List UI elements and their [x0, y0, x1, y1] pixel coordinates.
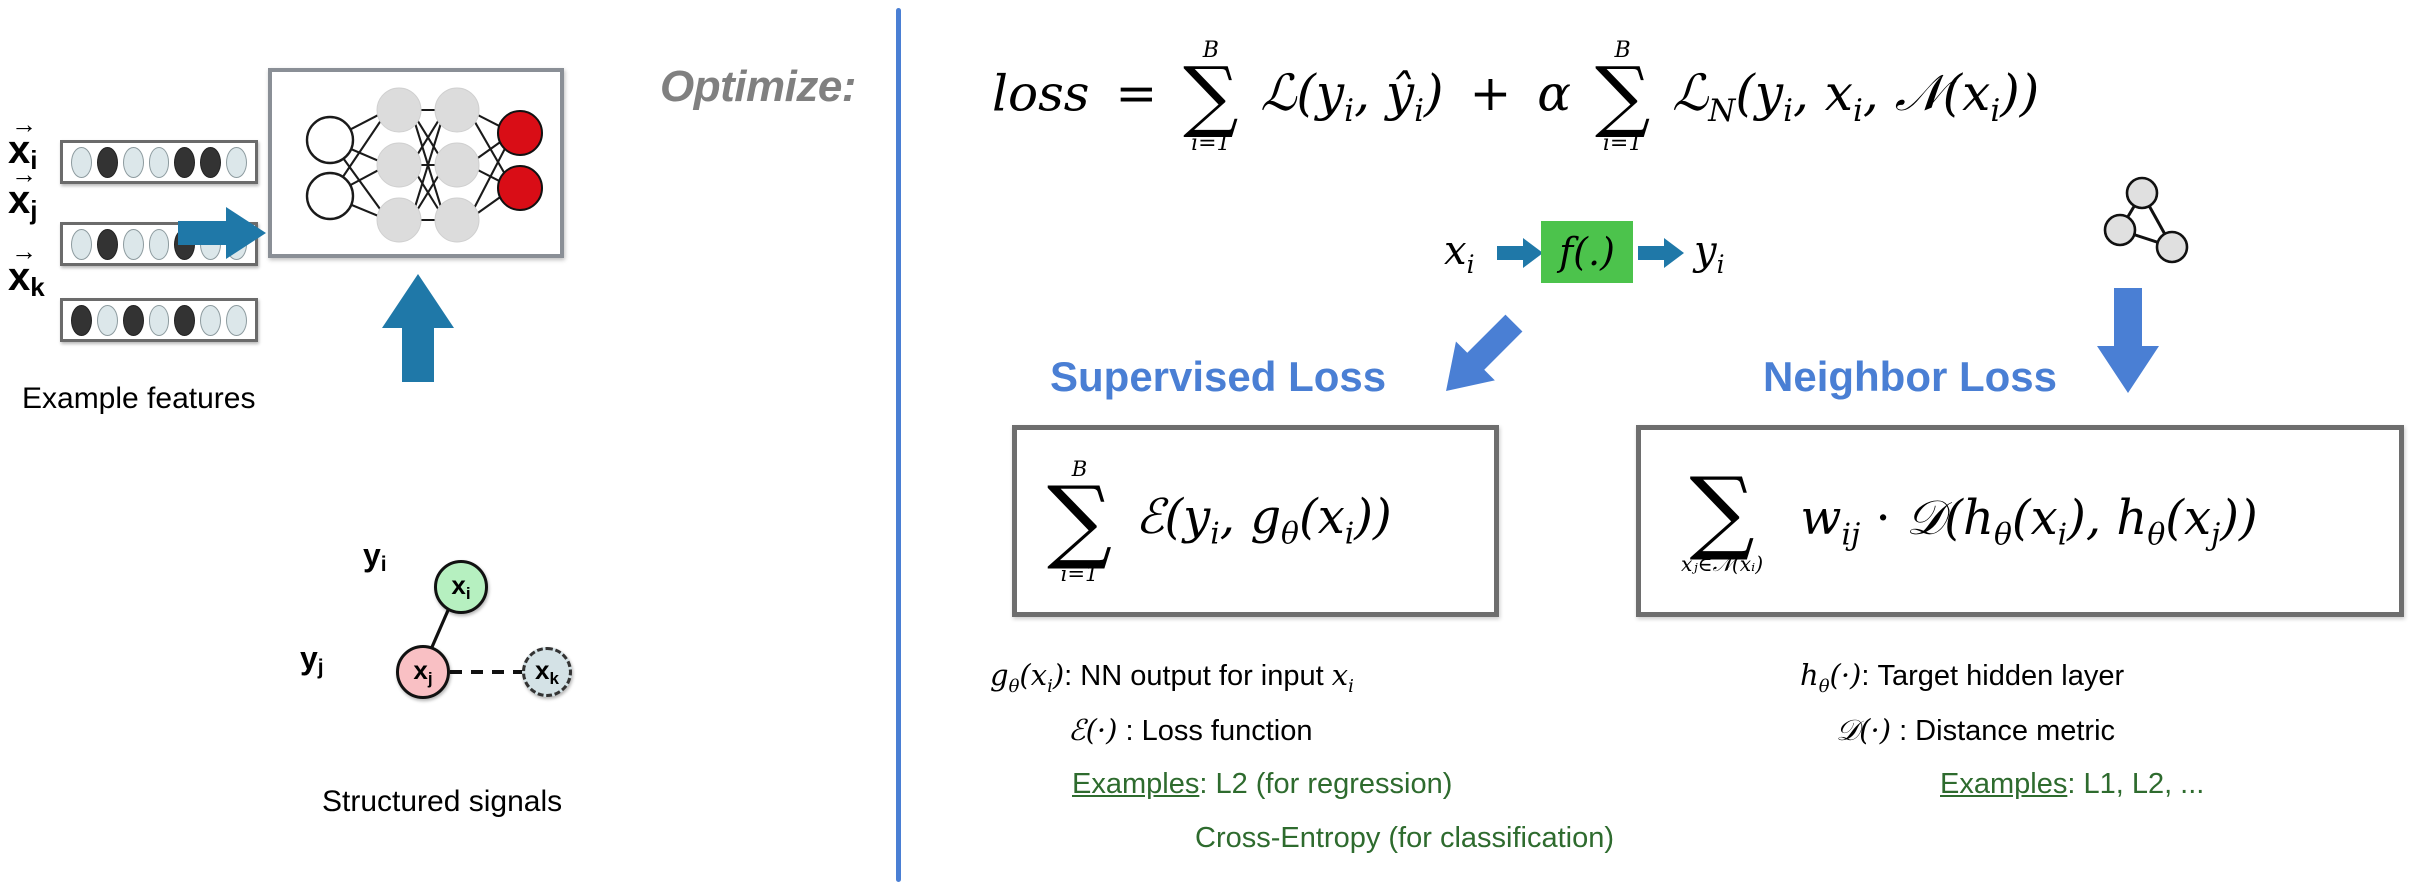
neighbor-examples-line: Examples: L1, L2, ... [1940, 768, 2204, 801]
pipeline-output-label: yi [1694, 228, 1725, 279]
feature-cell [97, 305, 118, 336]
arrow-features-to-network-icon [176, 200, 272, 272]
neighbor-loss-formula: ∑ xⱼ∈𝒩(xᵢ) wij · 𝒟(hθ(xi), hθ(xj)) [1641, 468, 2258, 574]
formula-term1: ℒ(y [1260, 64, 1344, 122]
arrow-to-neighbor-loss-icon [2093, 288, 2163, 396]
feature-cell [149, 305, 170, 336]
feature-cell [97, 147, 118, 178]
neighbor-examples-label: Examples [1940, 768, 2067, 800]
pipeline-arrow-in-icon [1497, 236, 1545, 270]
supervised-legend-line-1: gθ(xi): NN output for input xi [990, 658, 1354, 697]
neural-network-graph [268, 68, 564, 258]
feature-vector-xk [60, 298, 258, 342]
supervised-summation: B ∑ i=1 [1047, 458, 1112, 584]
feature-cell [123, 305, 144, 336]
panel-divider [896, 8, 901, 882]
feature-cell [174, 305, 195, 336]
neighbor-legend-line-2: 𝒟(·) : Distance metric [1836, 713, 2115, 748]
supervised-loss-box: B ∑ i=1 ℰ(yi, gθ(xi)) [1012, 425, 1499, 617]
feature-cell [200, 305, 221, 336]
supervised-examples-label: Examples [1072, 768, 1199, 800]
structured-signals-graph [290, 530, 590, 730]
vec-sub-xk: k [30, 272, 44, 302]
feature-vector-label-xj: → xj [8, 168, 37, 223]
arrow-signals-to-network-icon [380, 272, 458, 386]
supervised-loss-formula: B ∑ i=1 ℰ(yi, gθ(xi)) [1017, 458, 1392, 584]
feature-cell [123, 229, 144, 260]
feature-cell [71, 147, 92, 178]
feature-cell [200, 147, 221, 178]
feature-cell [71, 305, 92, 336]
feature-vector-xi [60, 140, 258, 184]
pipeline-arrow-out-icon [1638, 236, 1686, 270]
summation-1: B ∑ i=1 [1183, 40, 1238, 155]
formula-alpha: α [1537, 64, 1571, 122]
formula-equals: = [1115, 64, 1157, 122]
feature-cell [123, 147, 144, 178]
vec-letter-xk: x [8, 255, 30, 299]
vec-sub-xj: j [30, 195, 37, 225]
supervised-examples-line-2: Cross-Entropy (for classification) [1195, 822, 1614, 855]
feature-cell [149, 229, 170, 260]
graph-node-xj: xj [396, 645, 450, 699]
graph-node-xi: xi [434, 560, 488, 614]
neighbor-legend-line-1: hθ(·): Target hidden layer [1800, 658, 2124, 697]
formula-lhs: loss [992, 64, 1089, 122]
neighbor-loss-title: Neighbor Loss [1763, 353, 2057, 401]
neighbor-loss-box: ∑ xⱼ∈𝒩(xᵢ) wij · 𝒟(hθ(xi), hθ(xj)) [1636, 425, 2404, 617]
triangle-graph-icon [2090, 165, 2200, 275]
example-features-caption: Example features [22, 382, 255, 416]
feature-cell [226, 147, 247, 178]
function-box: f(.) [1541, 221, 1633, 283]
feature-vector-label-xk: → xk [8, 245, 45, 300]
arrow-to-supervised-loss-icon [1420, 300, 1540, 415]
formula-term2-head: ℒ [1672, 64, 1708, 122]
neighbor-summation: ∑ xⱼ∈𝒩(xᵢ) [1681, 468, 1763, 574]
feature-cell [149, 147, 170, 178]
feature-cell [97, 229, 118, 260]
summation-2: B ∑ i=1 [1595, 40, 1650, 155]
pipeline-input-label: xi [1444, 228, 1475, 279]
supervised-legend-line-2: ℰ(·) : Loss function [1068, 713, 1313, 748]
supervised-examples-line: Examples: L2 (for regression) [1072, 768, 1452, 801]
feature-cell [71, 229, 92, 260]
optimize-label: Optimize: [660, 62, 856, 112]
formula-plus: + [1469, 64, 1511, 122]
structured-signals-caption: Structured signals [322, 785, 562, 819]
graph-node-xk: xk [522, 647, 572, 697]
feature-cell [226, 305, 247, 336]
feature-cell [174, 147, 195, 178]
vec-letter-xj: x [8, 178, 30, 222]
supervised-loss-title: Supervised Loss [1050, 353, 1386, 401]
main-loss-formula: loss = B ∑ i=1 ℒ(yi, ŷi) + α B ∑ i=1 ℒN(… [992, 40, 2039, 155]
